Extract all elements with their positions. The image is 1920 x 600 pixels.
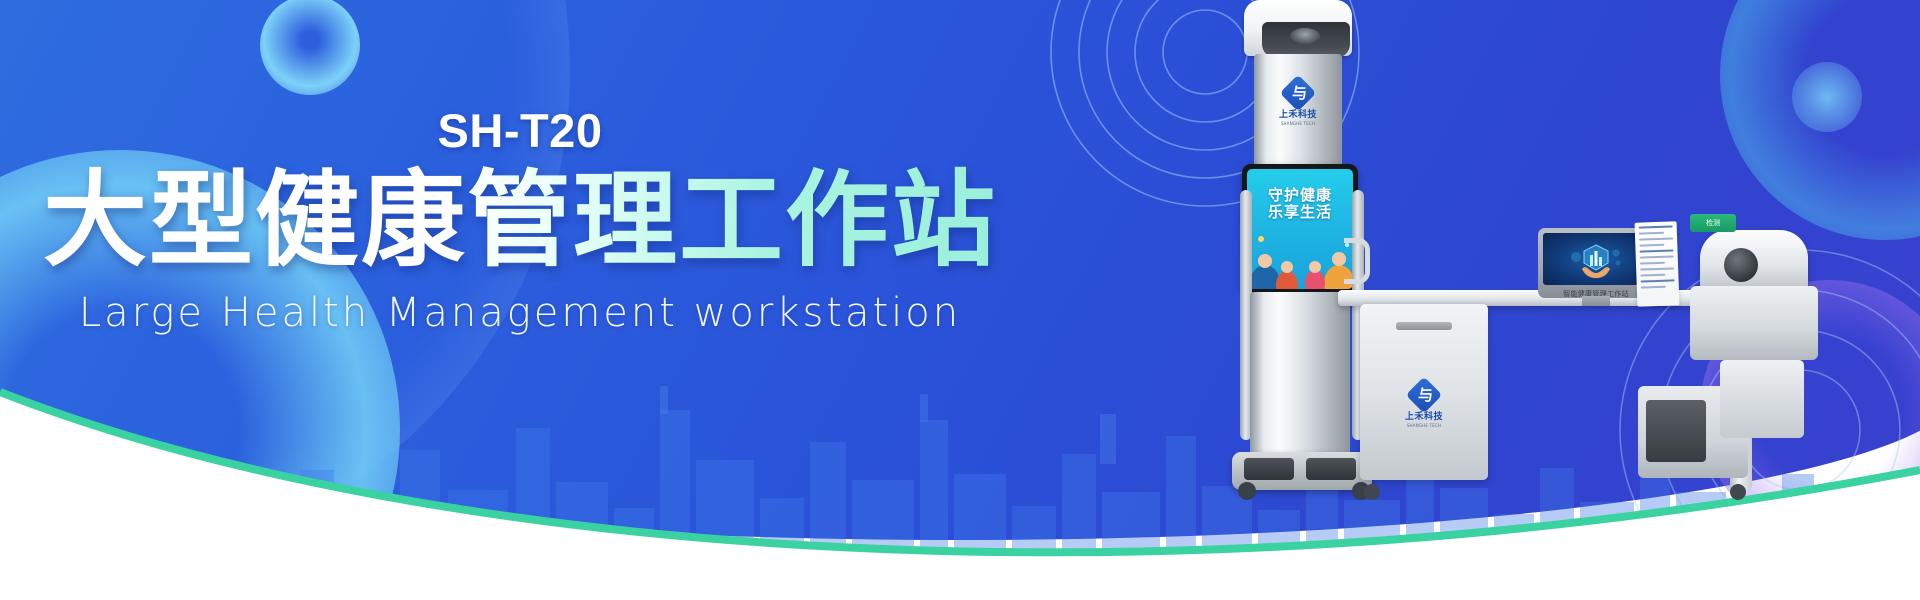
desk-cabinet: 与 上禾科技 SHANGHE TECH — [1360, 304, 1488, 480]
kiosk-brand-en: SHANGHE TECH — [1281, 121, 1315, 126]
caster-wheel-left — [1238, 482, 1256, 500]
kiosk-height-sensor-icon — [1290, 28, 1320, 44]
analyzer-status-tag-label: 检测 — [1690, 214, 1736, 232]
analyzer-lens-icon — [1724, 248, 1758, 282]
product-image: 与 上禾科技 SHANGHE TECH 守护健康 乐享生活 — [1220, 0, 1920, 600]
kiosk-handle[interactable] — [1344, 238, 1370, 284]
model-name: SH-T20 — [438, 107, 603, 154]
analyzer-body — [1690, 286, 1818, 360]
desk-caster-right — [1730, 484, 1746, 500]
kiosk-lower-column — [1250, 292, 1350, 462]
product-banner: SH-T20 大型健康管理工作站 Large Health Management… — [0, 0, 1920, 600]
kiosk-brand-logo: 与 上禾科技 SHANGHE TECH — [1260, 72, 1336, 134]
kiosk-display[interactable]: 守护健康 乐享生活 — [1242, 164, 1358, 294]
analyzer-base-box — [1720, 360, 1804, 438]
monitor-screen — [1543, 233, 1649, 285]
page-title: 大型健康管理工作站 — [43, 162, 997, 278]
kiosk-slogan-line2: 乐享生活 — [1247, 204, 1353, 221]
kiosk-slogan: 守护健康 乐享生活 — [1247, 187, 1353, 222]
analyzer-head — [1700, 230, 1808, 292]
foot-pad-left — [1244, 458, 1294, 480]
health-hands-shield-icon — [1568, 239, 1624, 279]
kiosk-slogan-line1: 守护健康 — [1247, 187, 1353, 204]
subtitle-english: Large Health Management workstation — [79, 293, 961, 333]
kiosk-head — [1244, 0, 1352, 56]
shanghe-logo-icon-cabinet: 与 — [1411, 382, 1437, 408]
cabinet-brand-logo: 与 上禾科技 SHANGHE TECH — [1360, 382, 1488, 428]
monitor-stand — [1582, 296, 1610, 306]
analyzer-status-tag: 检测 — [1690, 214, 1736, 232]
family-illustration-icon — [1247, 231, 1353, 289]
printed-report-paper — [1635, 221, 1680, 306]
desk-caster-left — [1364, 484, 1380, 500]
cabinet-brand-en: SHANGHE TECH — [1407, 423, 1441, 428]
side-module-panel — [1646, 400, 1706, 462]
banner-text-block: SH-T20 大型健康管理工作站 Large Health Management… — [0, 0, 1040, 440]
cabinet-drawer-slot[interactable] — [1396, 322, 1452, 330]
shanghe-logo-icon: 与 — [1285, 80, 1311, 106]
analyzer-unit — [1690, 230, 1818, 360]
